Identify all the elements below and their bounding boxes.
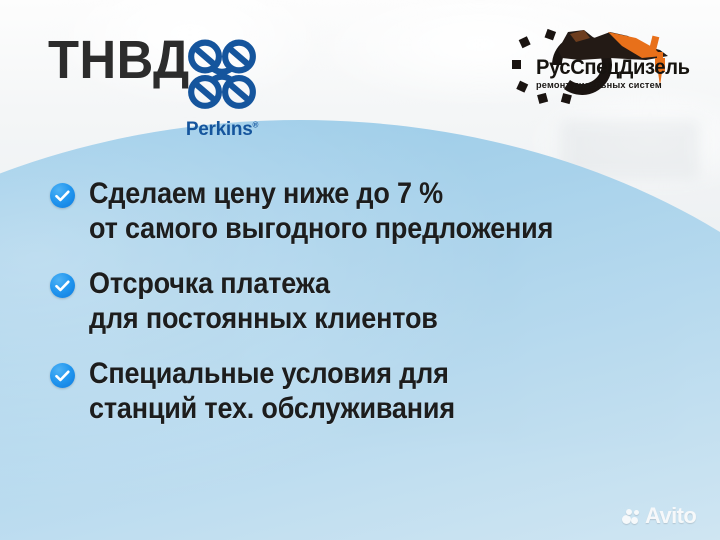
avito-watermark: Avito (622, 503, 696, 529)
company-logo: РусСпецДизель ремонт дизельных систем (508, 22, 698, 108)
offer-line-1: Отсрочка платежа (89, 266, 438, 301)
banner-header: ТНВД Perkins® (0, 0, 720, 140)
offer-line-1: Специальные условия для (89, 356, 455, 391)
check-circle-icon (50, 363, 75, 388)
perkins-quatrefoil-icon (183, 99, 261, 116)
perkins-wordmark: Perkins® (176, 119, 268, 141)
offer-line-2: для постоянных клиентов (89, 301, 438, 336)
offer-line-2: станций тех. обслуживания (89, 391, 455, 426)
perkins-brand: Perkins® (176, 38, 268, 141)
list-item: Специальные условия для станций тех. обс… (50, 356, 650, 426)
offer-line-1: Сделаем цену ниже до 7 % (89, 176, 553, 211)
registered-mark: ® (252, 121, 258, 130)
offer-text: Отсрочка платежа для постоянных клиентов (89, 266, 438, 336)
avito-wordmark: Avito (645, 503, 696, 529)
list-item: Сделаем цену ниже до 7 % от самого выгод… (50, 176, 650, 246)
promo-banner: ТНВД Perkins® (0, 0, 720, 540)
list-item: Отсрочка платежа для постоянных клиентов (50, 266, 650, 336)
offer-line-2: от самого выгодного предложения (89, 211, 553, 246)
check-circle-icon (50, 183, 75, 208)
offer-text: Сделаем цену ниже до 7 % от самого выгод… (89, 176, 553, 246)
check-circle-icon (50, 273, 75, 298)
offer-text: Специальные условия для станций тех. обс… (89, 356, 455, 426)
page-title: ТНВД (48, 33, 190, 87)
avito-dots-icon (622, 507, 642, 525)
offers-list: Сделаем цену ниже до 7 % от самого выгод… (50, 176, 650, 446)
company-tagline: ремонт дизельных систем (536, 80, 662, 90)
company-name: РусСпецДизель (536, 56, 690, 80)
